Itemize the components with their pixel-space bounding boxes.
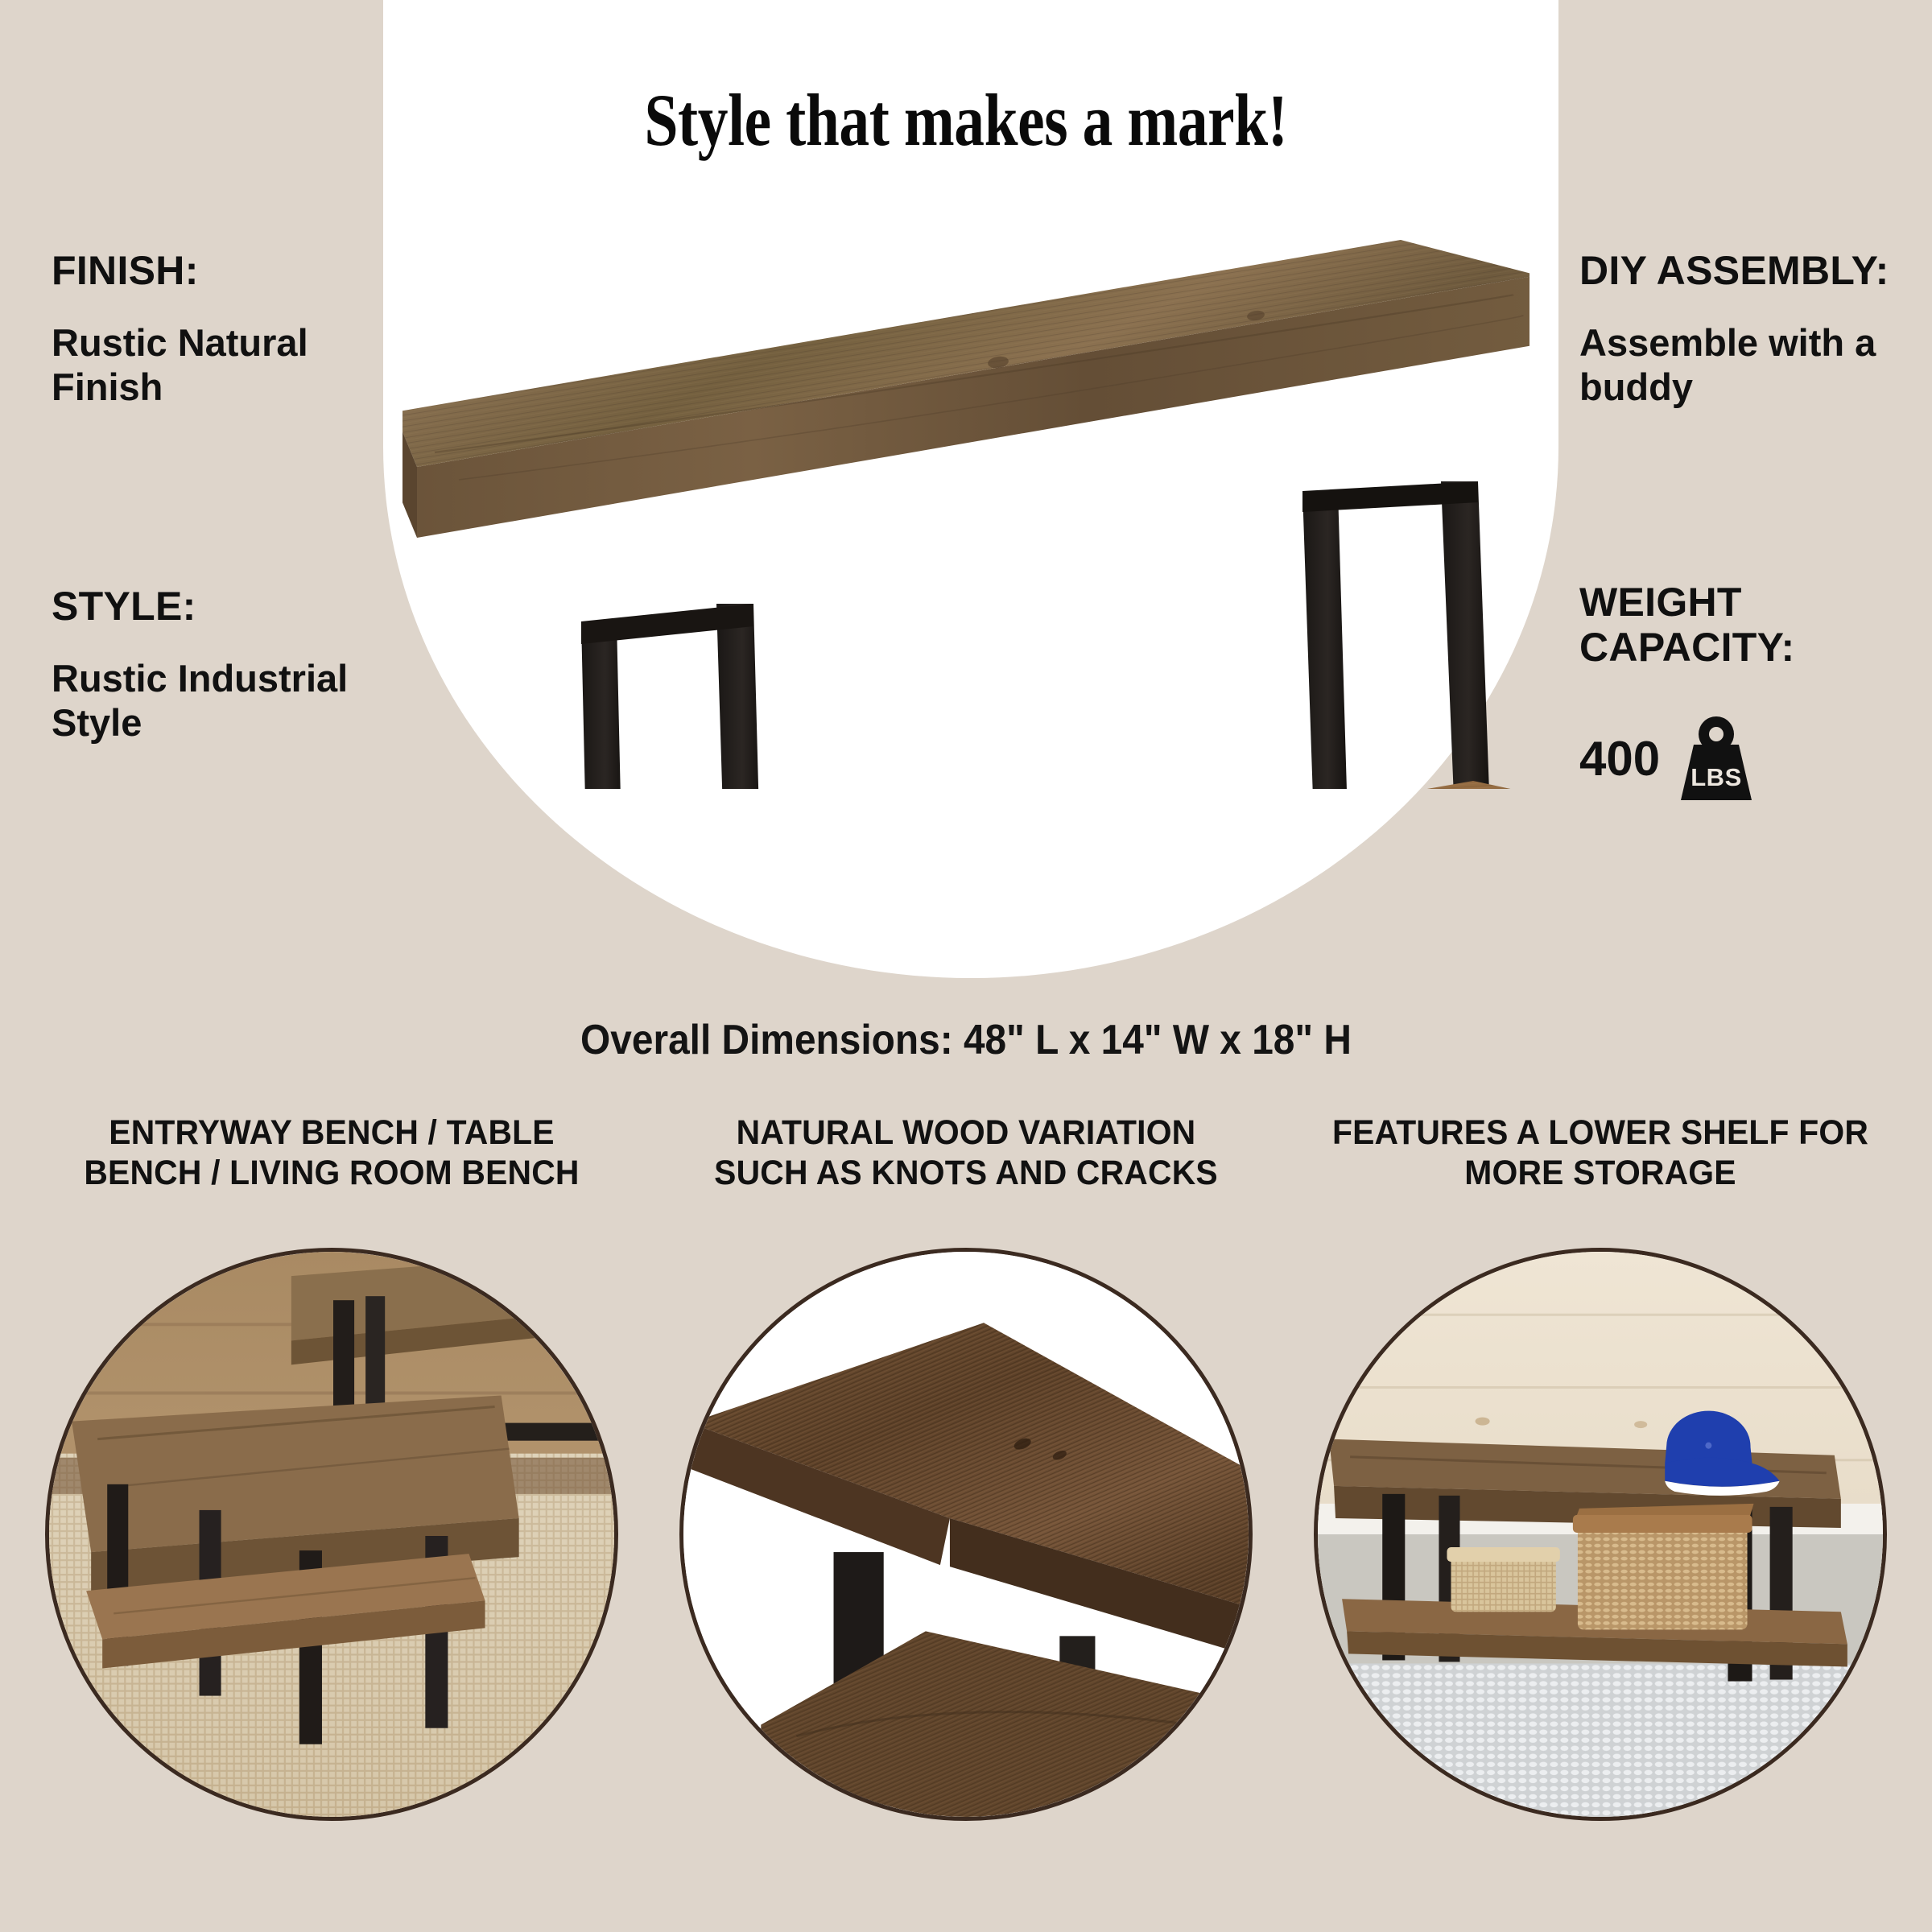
spec-finish: FINISH: Rustic Natural Finish [52, 248, 374, 410]
wood-grain-closeup-photo [683, 1252, 1249, 1817]
spec-finish-value: Rustic Natural Finish [52, 320, 374, 410]
weight-capacity-badge: 400 LBS [1579, 715, 1918, 803]
spec-weight-capacity: WEIGHT CAPACITY: 400 LBS [1579, 580, 1918, 803]
spec-weight-label: WEIGHT CAPACITY: [1579, 580, 1918, 670]
infographic-canvas: Style that makes a mark! [0, 0, 1932, 1932]
spec-diy-assembly: DIY ASSEMBLY: Assemble with a buddy [1579, 248, 1918, 410]
feature-caption: NATURAL WOOD VARIATION SUCH AS KNOTS AND… [694, 1113, 1238, 1248]
page-title: Style that makes a mark! [174, 77, 1758, 163]
basket-small [1447, 1547, 1559, 1612]
weight-icon-unit-text: LBS [1690, 763, 1742, 791]
feature-caption: ENTRYWAY BENCH / TABLE BENCH / LIVING RO… [60, 1113, 604, 1248]
spec-diy-value: Assemble with a buddy [1579, 320, 1918, 410]
feature-photo-lower-shelf-storage [1314, 1248, 1887, 1821]
weight-icon: LBS [1674, 715, 1758, 803]
spec-finish-label: FINISH: [52, 248, 374, 293]
hero-product-image [402, 225, 1529, 789]
spec-diy-label: DIY ASSEMBLY: [1579, 248, 1918, 293]
spec-style-label: STYLE: [52, 584, 390, 629]
feature-gallery: ENTRYWAY BENCH / TABLE BENCH / LIVING RO… [0, 1113, 1932, 1926]
entryway-bench-with-baskets-photo [1318, 1252, 1883, 1817]
weight-capacity-number: 400 [1579, 735, 1660, 783]
spec-style-value: Rustic Industrial Style [52, 656, 390, 745]
rustic-bench-illustration [402, 225, 1529, 789]
bench-on-jute-rug-photo [49, 1252, 614, 1817]
feature-photo-entryway-bench [45, 1248, 618, 1821]
bench-metal-legs-back [1302, 481, 1491, 789]
feature-item: FEATURES A LOWER SHELF FOR MORE STORAGE [1314, 1113, 1887, 1926]
bench-metal-legs-front [581, 604, 763, 789]
overall-dimensions: Overall Dimensions: 48" L x 14" W x 18" … [77, 1016, 1855, 1064]
feature-item: ENTRYWAY BENCH / TABLE BENCH / LIVING RO… [45, 1113, 618, 1926]
spec-style: STYLE: Rustic Industrial Style [52, 584, 390, 745]
feature-item: NATURAL WOOD VARIATION SUCH AS KNOTS AND… [679, 1113, 1253, 1926]
feature-caption: FEATURES A LOWER SHELF FOR MORE STORAGE [1328, 1113, 1872, 1248]
basket-large [1573, 1504, 1754, 1629]
feature-photo-wood-variation [679, 1248, 1253, 1821]
